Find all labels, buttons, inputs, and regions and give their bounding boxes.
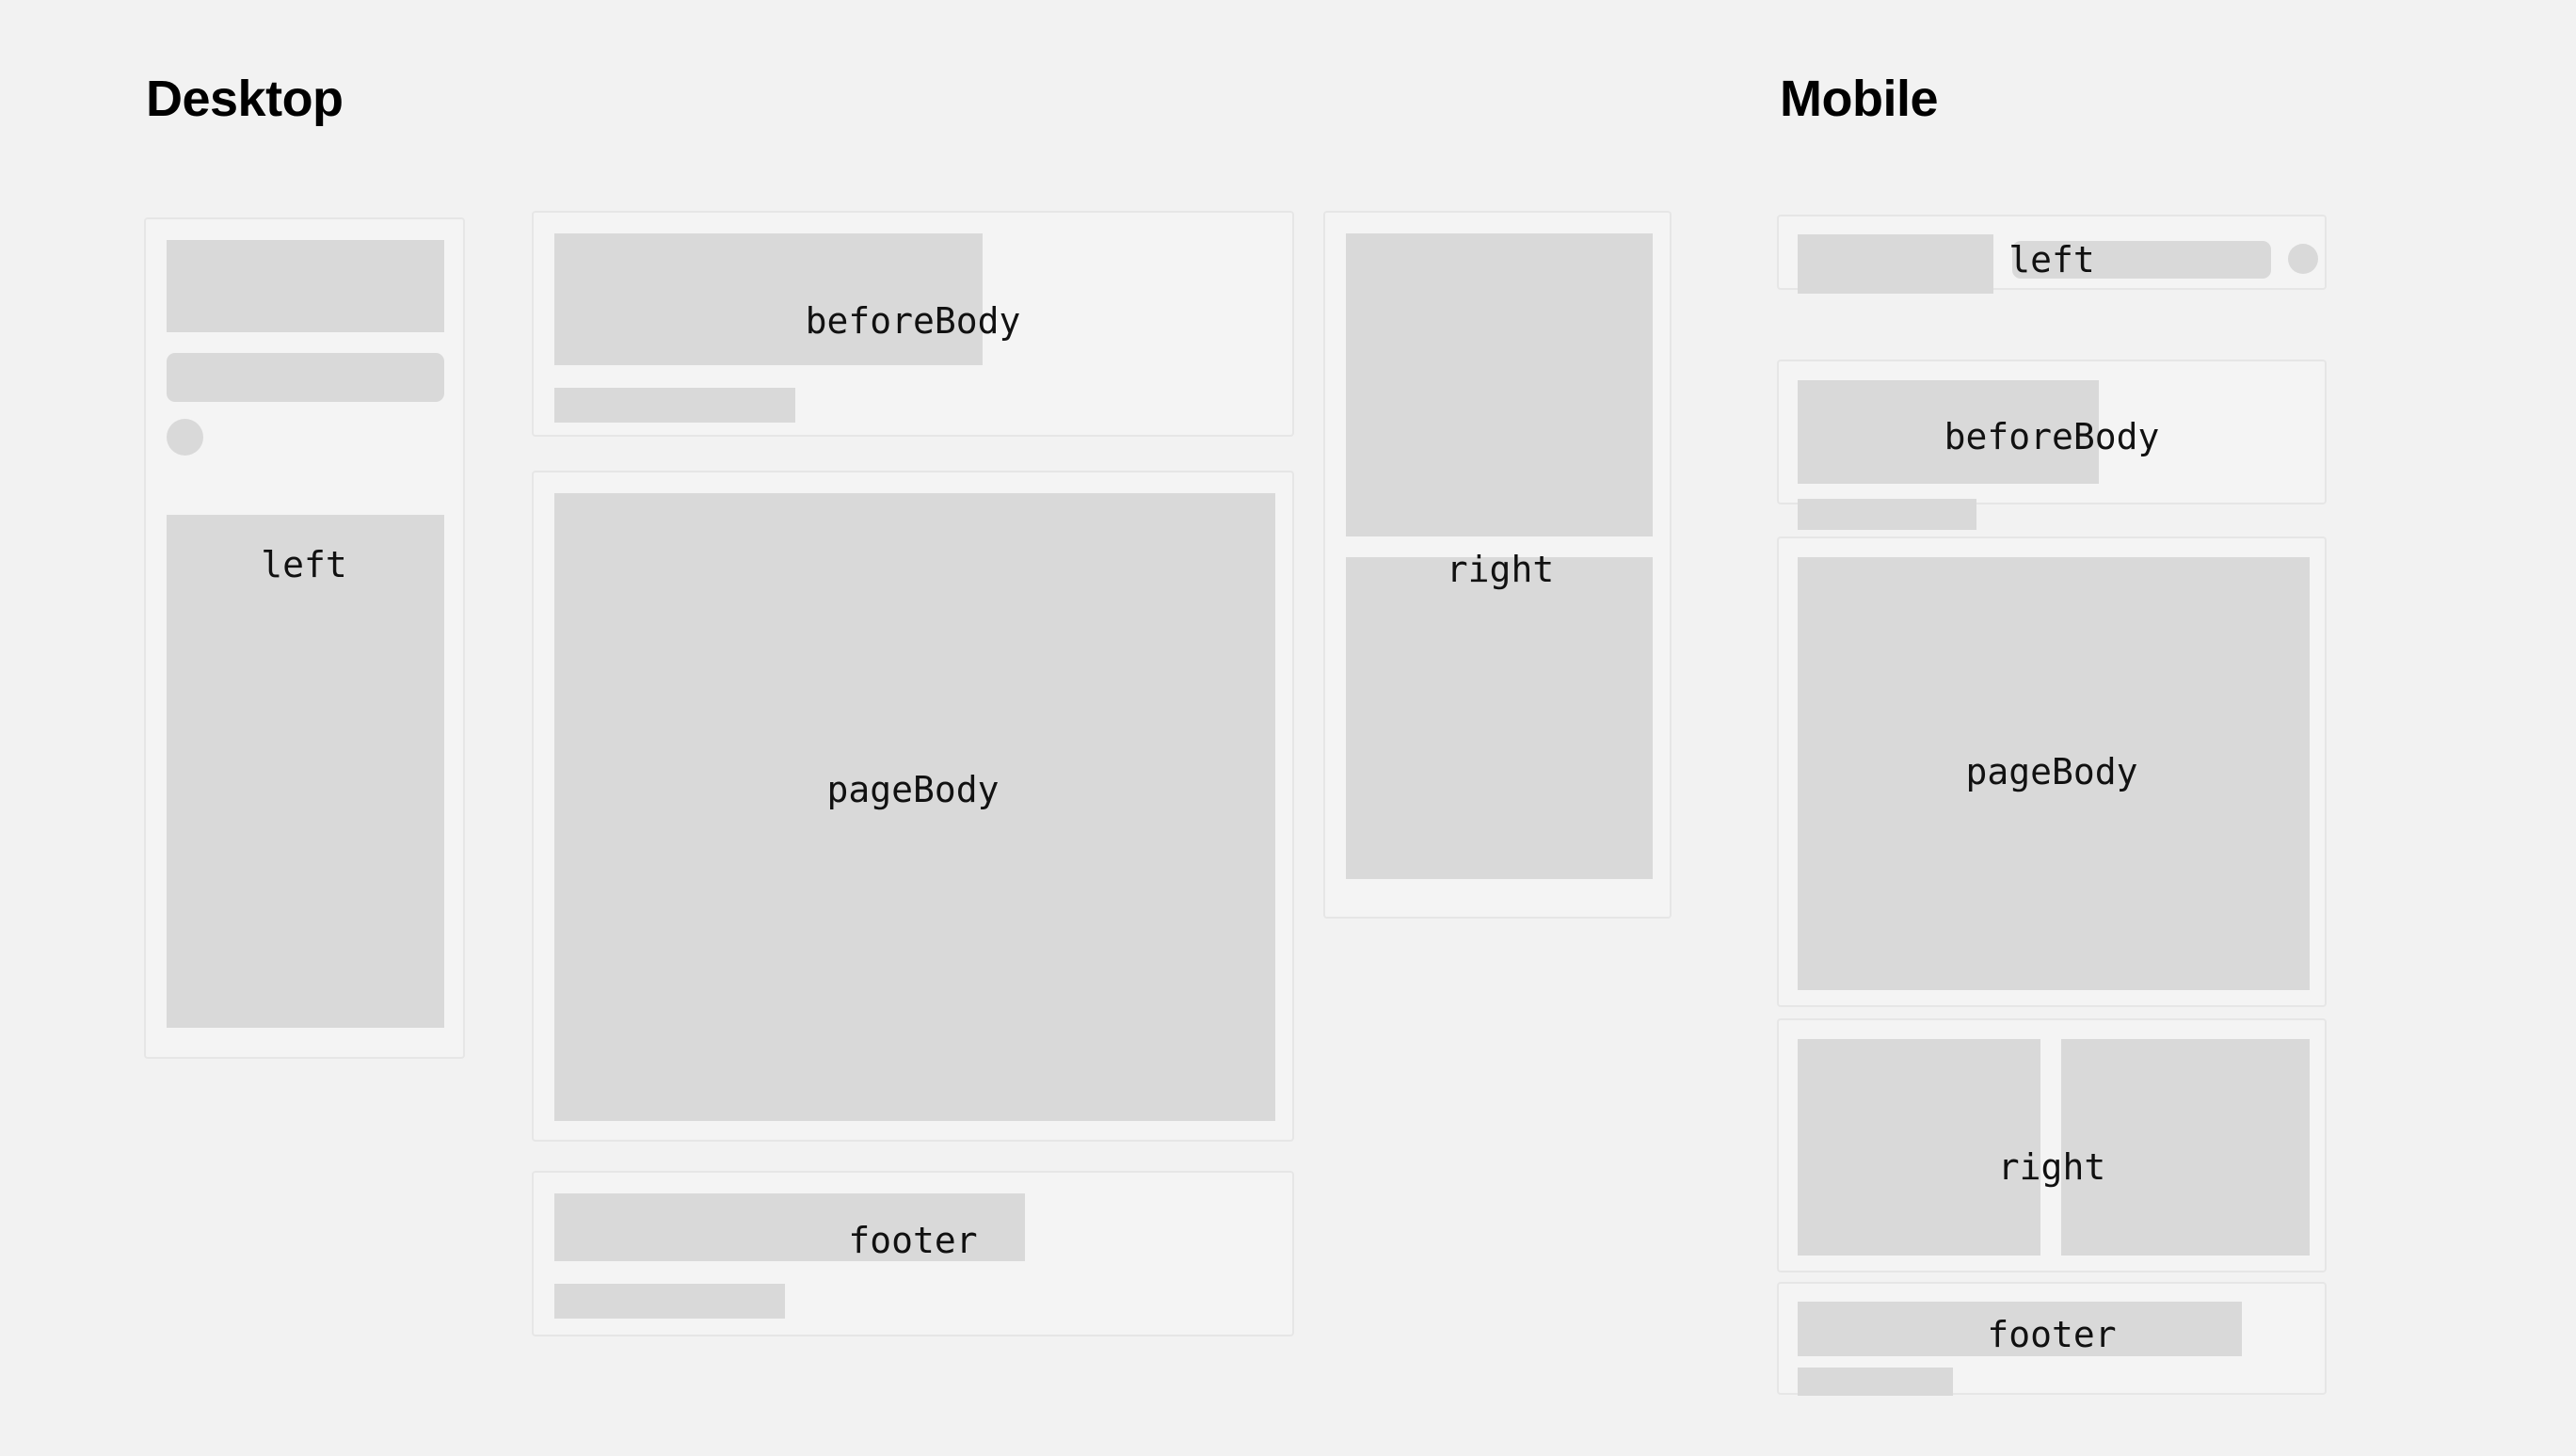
skeleton-avatar-circle	[167, 419, 203, 456]
skeleton-bar	[554, 388, 795, 423]
skeleton-bar	[2012, 241, 2271, 279]
skeleton-block	[1798, 234, 1993, 294]
skeleton-block	[554, 233, 983, 365]
skeleton-block	[167, 515, 444, 1028]
mobile-pagebody-zone-card[interactable]	[1777, 536, 2327, 1007]
skeleton-bar	[1798, 499, 1976, 530]
skeleton-block	[1798, 380, 2099, 484]
skeleton-block	[1798, 1039, 2040, 1256]
skeleton-bar	[167, 353, 444, 402]
skeleton-block	[1798, 557, 2310, 990]
desktop-section-title: Desktop	[146, 73, 344, 124]
skeleton-block	[554, 493, 1275, 1121]
skeleton-avatar-circle	[2288, 244, 2318, 274]
mobile-right-zone-card[interactable]	[1777, 1018, 2327, 1272]
desktop-left-zone-card[interactable]	[144, 217, 465, 1059]
mobile-beforebody-zone-card[interactable]	[1777, 360, 2327, 504]
desktop-beforebody-zone-card[interactable]	[532, 211, 1294, 437]
mobile-footer-zone-card[interactable]	[1777, 1282, 2327, 1395]
skeleton-block	[554, 1193, 1025, 1261]
skeleton-block	[1346, 557, 1653, 879]
desktop-footer-zone-card[interactable]	[532, 1171, 1294, 1336]
mobile-left-zone-card[interactable]	[1777, 215, 2327, 290]
skeleton-block	[1798, 1302, 2242, 1356]
mobile-section-title: Mobile	[1780, 73, 1938, 124]
skeleton-block	[167, 240, 444, 332]
desktop-pagebody-zone-card[interactable]	[532, 471, 1294, 1142]
skeleton-block	[1346, 233, 1653, 536]
skeleton-block	[2061, 1039, 2310, 1256]
skeleton-bar	[1798, 1368, 1953, 1396]
desktop-right-zone-card[interactable]	[1323, 211, 1672, 919]
skeleton-bar	[554, 1284, 785, 1319]
